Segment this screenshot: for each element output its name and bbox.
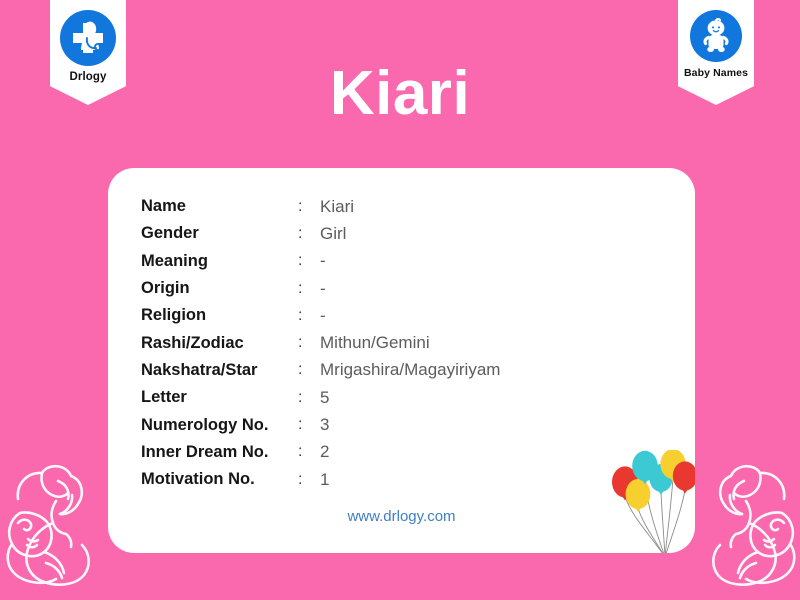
table-row: Meaning:-: [141, 248, 500, 275]
attribute-separator: :: [298, 302, 320, 329]
page-title: Kiari: [0, 63, 800, 125]
attribute-value: Mrigashira/Magayiriyam: [320, 357, 500, 384]
site-url-link[interactable]: www.drlogy.com: [108, 508, 695, 525]
attribute-label: Inner Dream No.: [141, 439, 298, 466]
table-row: Letter:5: [141, 384, 500, 411]
attribute-separator: :: [298, 466, 320, 493]
attribute-value: 1: [320, 466, 500, 493]
baby-icon: [690, 10, 742, 62]
attribute-value: 3: [320, 411, 500, 438]
attribute-label: Nakshatra/Star: [141, 357, 298, 384]
table-row: Gender:Girl: [141, 220, 500, 247]
attribute-separator: :: [298, 220, 320, 247]
attribute-separator: :: [298, 248, 320, 275]
attribute-separator: :: [298, 411, 320, 438]
attribute-label: Motivation No.: [141, 466, 298, 493]
attribute-label: Rashi/Zodiac: [141, 329, 298, 356]
balloons-decoration: [611, 450, 695, 553]
attribute-value: 5: [320, 384, 500, 411]
name-detail-card: Name:KiariGender:GirlMeaning:-Origin:-Re…: [108, 168, 695, 553]
table-row: Rashi/Zodiac:Mithun/Gemini: [141, 329, 500, 356]
attribute-label: Numerology No.: [141, 411, 298, 438]
name-attributes-table: Name:KiariGender:GirlMeaning:-Origin:-Re…: [141, 193, 500, 493]
attribute-value: Mithun/Gemini: [320, 329, 500, 356]
attribute-label: Name: [141, 193, 298, 220]
attribute-value: 2: [320, 439, 500, 466]
attribute-label: Gender: [141, 220, 298, 247]
corner-decoration-right: [698, 445, 800, 600]
attribute-value: Kiari: [320, 193, 500, 220]
attribute-label: Letter: [141, 384, 298, 411]
attribute-label: Meaning: [141, 248, 298, 275]
attribute-label: Religion: [141, 302, 298, 329]
attribute-separator: :: [298, 329, 320, 356]
table-row: Numerology No.:3: [141, 411, 500, 438]
attribute-label: Origin: [141, 275, 298, 302]
table-row: Nakshatra/Star:Mrigashira/Magayiriyam: [141, 357, 500, 384]
corner-decoration-left: [0, 445, 104, 600]
attribute-separator: :: [298, 439, 320, 466]
attribute-separator: :: [298, 357, 320, 384]
table-row: Name:Kiari: [141, 193, 500, 220]
attribute-value: -: [320, 248, 500, 275]
attribute-value: -: [320, 302, 500, 329]
table-row: Origin:-: [141, 275, 500, 302]
table-row: Inner Dream No.:2: [141, 439, 500, 466]
attribute-separator: :: [298, 384, 320, 411]
doctor-stethoscope-cross-icon: [60, 10, 116, 66]
table-row: Religion:-: [141, 302, 500, 329]
attribute-value: Girl: [320, 220, 500, 247]
attribute-separator: :: [298, 275, 320, 302]
attribute-value: -: [320, 275, 500, 302]
attribute-separator: :: [298, 193, 320, 220]
table-row: Motivation No.:1: [141, 466, 500, 493]
